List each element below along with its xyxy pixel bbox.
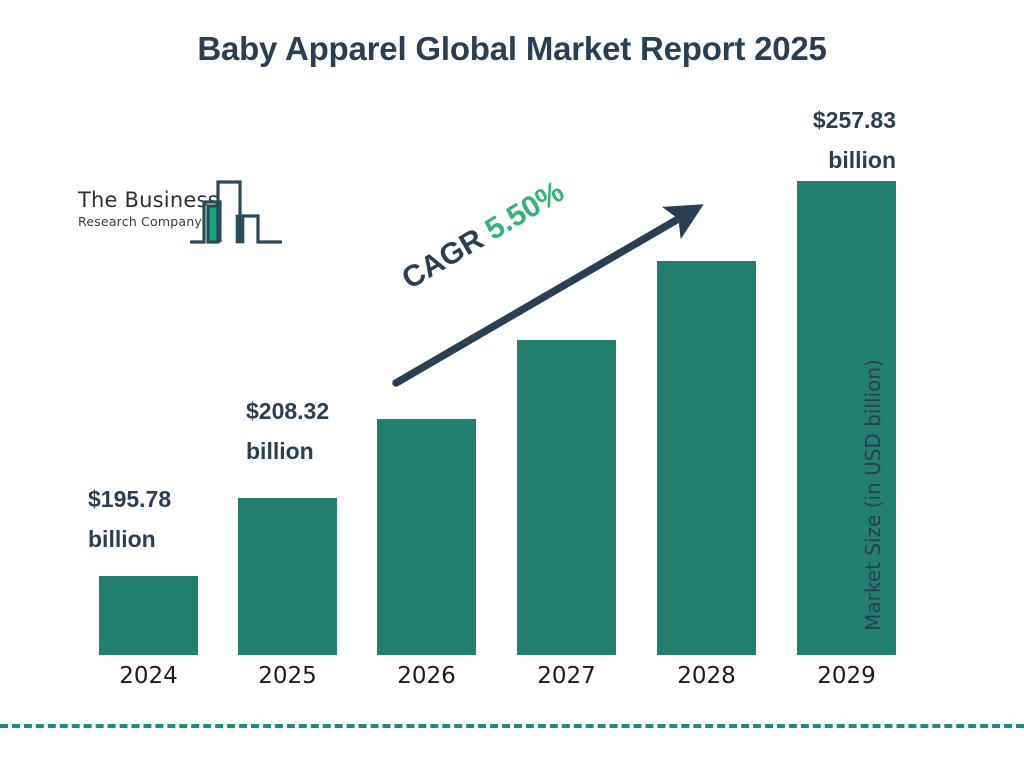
x-tick-2025: 2025 <box>238 663 337 689</box>
logo-line-research-company: Research Company <box>78 214 208 229</box>
cagr-label: CAGR <box>396 223 489 296</box>
value-label-2029-line1: $257.83 <box>680 105 896 136</box>
logo: The Business Research Company <box>78 176 283 248</box>
bar-2025 <box>238 498 337 655</box>
logo-line-the-business: The Business <box>78 190 208 211</box>
x-tick-2029: 2029 <box>797 663 896 689</box>
value-label-2025-line1: $208.32 <box>246 396 329 427</box>
bar-2026 <box>377 419 476 655</box>
value-label-2029-line2: billion <box>680 145 896 176</box>
x-tick-2026: 2026 <box>377 663 476 689</box>
bar-2028 <box>657 261 756 655</box>
bar-chart-logo-mark <box>190 176 282 253</box>
bar-2024 <box>99 576 198 655</box>
x-tick-2024: 2024 <box>99 663 198 689</box>
value-label-2024-line1: $195.78 <box>88 484 171 515</box>
cagr-annotation: CAGR 5.50% <box>396 175 570 297</box>
y-axis-title: Market Size (in USD billion) <box>861 335 885 655</box>
logo-text: The Business Research Company <box>78 190 208 229</box>
x-tick-2028: 2028 <box>657 663 756 689</box>
bottom-divider <box>0 724 1024 728</box>
value-label-2024-line2: billion <box>88 524 156 555</box>
bar-2027 <box>517 340 616 655</box>
value-label-2025-line2: billion <box>246 436 314 467</box>
chart-page: Baby Apparel Global Market Report 2025 T… <box>0 0 1024 768</box>
page-title: Baby Apparel Global Market Report 2025 <box>0 30 1024 68</box>
x-tick-2027: 2027 <box>517 663 616 689</box>
cagr-value: 5.50% <box>480 175 570 247</box>
